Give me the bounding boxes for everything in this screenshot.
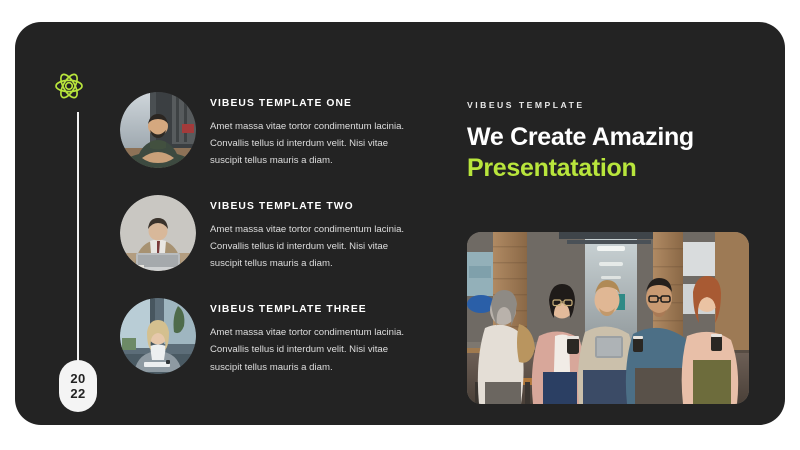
timeline-rail <box>77 112 79 362</box>
feature-description: Amet massa vitae tortor condimentum laci… <box>210 118 406 169</box>
headline-line-two: Presentatation <box>467 153 767 184</box>
feature-title: VIBEUS TEMPLATE THREE <box>210 304 406 315</box>
avatar <box>120 195 196 271</box>
avatar <box>120 92 196 168</box>
hero-photo <box>467 232 749 404</box>
feature-body: VIBEUS TEMPLATE TWO Amet massa vitae tor… <box>210 187 406 272</box>
feature-title: VIBEUS TEMPLATE TWO <box>210 201 406 212</box>
slide-stage: 20 22 <box>0 0 800 450</box>
feature-body: VIBEUS TEMPLATE THREE Amet massa vitae t… <box>210 290 406 375</box>
feature-description: Amet massa vitae tortor condimentum laci… <box>210 221 406 272</box>
hero-headline: We Create Amazing Presentatation <box>467 122 767 184</box>
feature-item-three[interactable]: VIBEUS TEMPLATE THREE Amet massa vitae t… <box>120 290 410 375</box>
feature-item-two[interactable]: VIBEUS TEMPLATE TWO Amet massa vitae tor… <box>120 187 410 272</box>
year-top: 20 <box>70 372 85 386</box>
feature-title: VIBEUS TEMPLATE ONE <box>210 98 406 109</box>
feature-body: VIBEUS TEMPLATE ONE Amet massa vitae tor… <box>210 84 406 169</box>
headline-line-one: We Create Amazing <box>467 122 767 153</box>
year-bottom: 22 <box>70 387 85 401</box>
feature-description: Amet massa vitae tortor condimentum laci… <box>210 324 406 375</box>
hero-text-panel: VIBEUS TEMPLATE We Create Amazing Presen… <box>467 100 767 184</box>
avatar <box>120 298 196 374</box>
year-badge: 20 22 <box>59 360 97 412</box>
feature-item-one[interactable]: VIBEUS TEMPLATE ONE Amet massa vitae tor… <box>120 84 410 169</box>
atom-icon <box>53 70 85 102</box>
feature-list: VIBEUS TEMPLATE ONE Amet massa vitae tor… <box>120 84 410 376</box>
hero-eyebrow: VIBEUS TEMPLATE <box>467 100 767 110</box>
slide-card: 20 22 <box>15 22 785 425</box>
